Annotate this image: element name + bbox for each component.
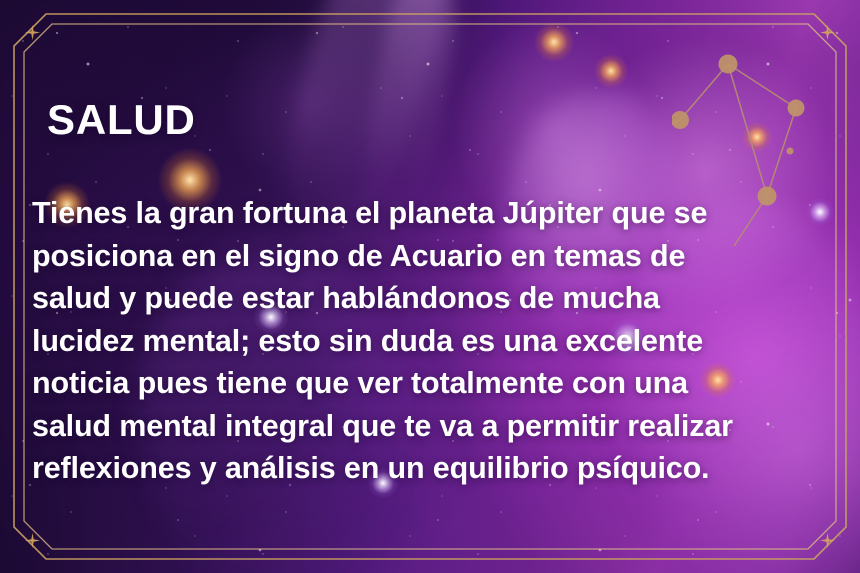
body-line: salud y puede estar hablándonos de mucha: [32, 277, 822, 320]
page-title: SALUD: [47, 96, 196, 144]
body-line: salud mental integral que te va a permit…: [32, 405, 822, 448]
body-line: reflexiones y análisis en un equilibrio …: [32, 447, 822, 490]
horoscope-body-text: Tienes la gran fortuna el planeta Júpite…: [32, 192, 822, 490]
body-line: noticia pues tiene que ver totalmente co…: [32, 362, 822, 405]
body-line: lucidez mental; esto sin duda es una exc…: [32, 320, 822, 363]
card-content: SALUD Tienes la gran fortuna el planeta …: [0, 0, 860, 573]
horoscope-card: SALUD Tienes la gran fortuna el planeta …: [0, 0, 860, 573]
body-line: posiciona en el signo de Acuario en tema…: [32, 235, 822, 278]
body-line: Tienes la gran fortuna el planeta Júpite…: [32, 192, 822, 235]
